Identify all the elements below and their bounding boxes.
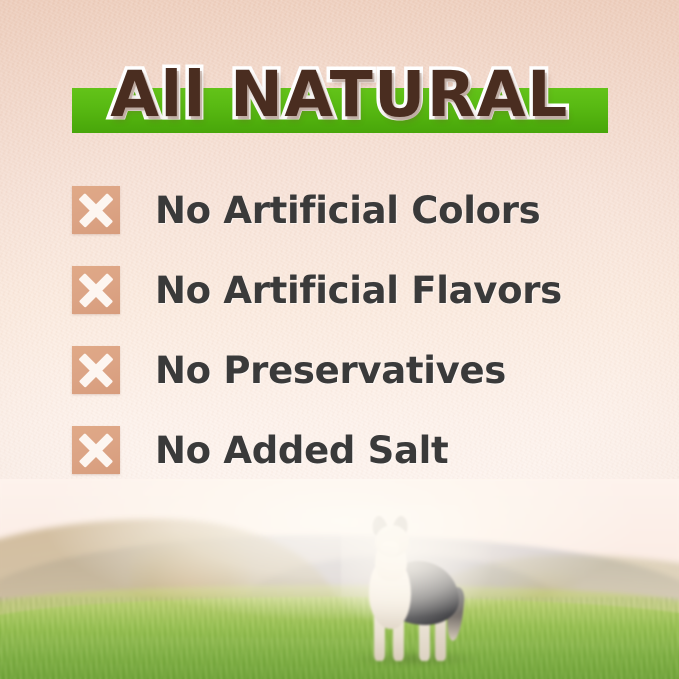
- x-mark-icon: [72, 266, 120, 314]
- grass-texture: [0, 597, 679, 679]
- all-natural-product-poster: All NATURAL No Artificial Colors No Arti…: [0, 0, 679, 679]
- headline-text: All NATURAL: [0, 49, 679, 141]
- border-collie-dog: [355, 515, 471, 661]
- x-mark-icon: [72, 426, 120, 474]
- lifestyle-photo: [0, 479, 679, 679]
- x-mark-icon: [72, 186, 120, 234]
- x-mark-icon: [72, 346, 120, 394]
- benefit-row: No Added Salt: [0, 410, 679, 490]
- benefit-label: No Artificial Flavors: [155, 272, 562, 309]
- benefit-row: No Artificial Flavors: [0, 250, 679, 330]
- headline-banner: All NATURAL: [0, 49, 679, 141]
- benefit-label: No Preservatives: [155, 352, 506, 389]
- benefits-list: No Artificial Colors No Artificial Flavo…: [0, 170, 679, 490]
- grass-foreground: [0, 597, 679, 679]
- benefit-row: No Artificial Colors: [0, 170, 679, 250]
- benefit-label: No Artificial Colors: [155, 192, 540, 229]
- benefit-row: No Preservatives: [0, 330, 679, 410]
- benefit-label: No Added Salt: [155, 432, 448, 469]
